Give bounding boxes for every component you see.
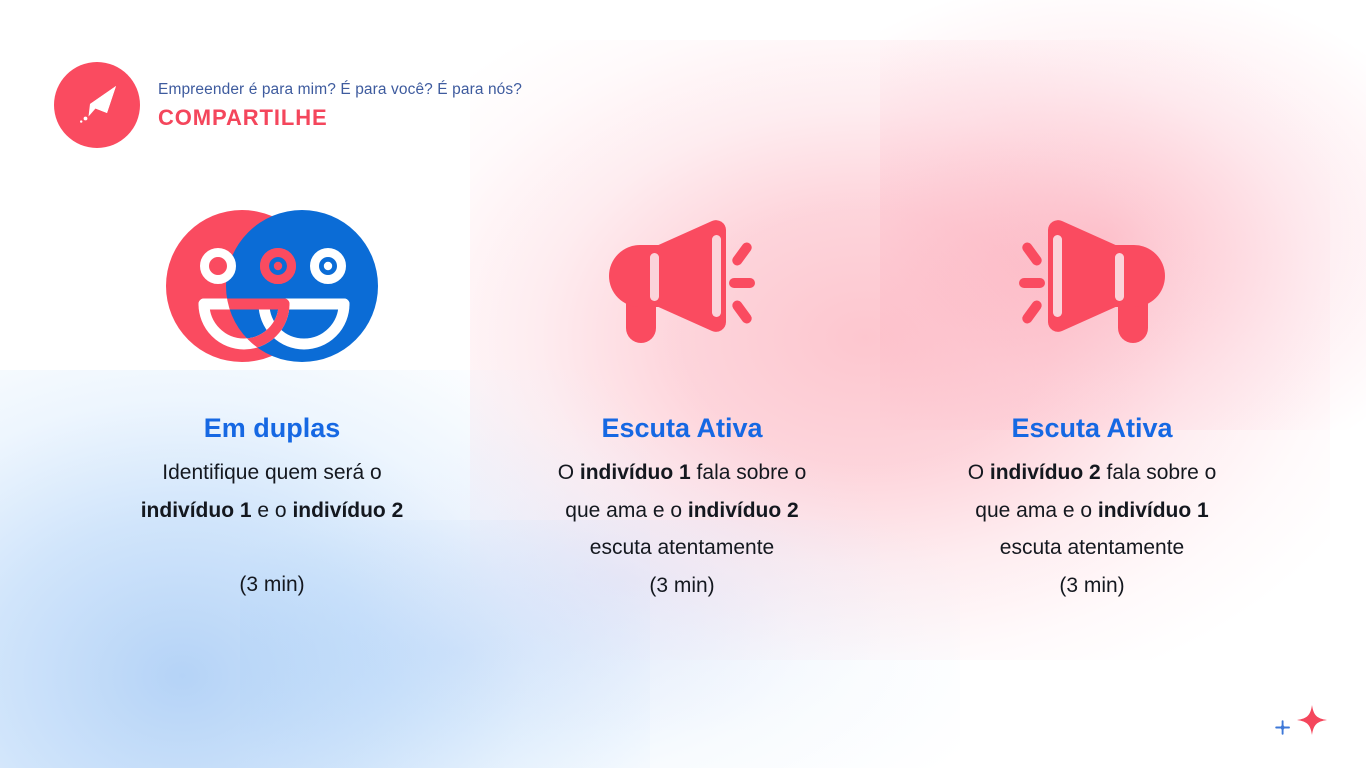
- body-text: Identifique quem será o: [162, 461, 381, 484]
- column-duration: (3 min): [239, 566, 304, 603]
- body-text-bold: indivíduo 2: [292, 499, 403, 522]
- body-line: Identifique quem será o: [141, 454, 404, 491]
- body-text-bold: indivíduo 1: [141, 499, 252, 522]
- body-text: fala sobre o: [691, 461, 807, 484]
- column-body: O indivíduo 1 fala sobre o que ama e o i…: [558, 454, 807, 566]
- column-body: Identifique quem será o indivíduo 1 e o …: [141, 454, 404, 529]
- column-duration: (3 min): [649, 567, 714, 604]
- megaphone-right-icon: [594, 211, 770, 366]
- body-line: que ama e o indivíduo 2: [558, 492, 807, 529]
- body-text: escuta atentamente: [1000, 536, 1184, 559]
- column-icon-box: [166, 190, 378, 386]
- body-line: O indivíduo 2 fala sobre o: [968, 454, 1217, 491]
- column-escuta-ativa-1: Escuta Ativa O indivíduo 1 fala sobre o …: [477, 190, 887, 604]
- body-text-bold: indivíduo 1: [1098, 499, 1209, 522]
- body-text-bold: indivíduo 2: [688, 499, 799, 522]
- column-heading: Escuta Ativa: [1011, 412, 1172, 444]
- column-em-duplas: Em duplas Identifique quem será o indiví…: [67, 190, 477, 604]
- logo-badge: [54, 62, 140, 148]
- columns-container: Em duplas Identifique quem será o indiví…: [0, 190, 1366, 604]
- column-icon-box: [594, 190, 770, 386]
- body-text: que ama e o: [975, 499, 1098, 522]
- plus-sparkle-icon: [1276, 721, 1289, 734]
- body-text-bold: indivíduo 2: [990, 461, 1101, 484]
- slide-canvas: Empreender é para mim? É para você? É pa…: [0, 0, 1366, 768]
- body-text: fala sobre o: [1101, 461, 1217, 484]
- megaphone-left-icon: [1004, 211, 1180, 366]
- slide-header: Empreender é para mim? É para você? É pa…: [54, 62, 522, 148]
- body-text: O: [558, 461, 580, 484]
- header-text-block: Empreender é para mim? É para você? É pa…: [158, 80, 522, 133]
- four-point-star-icon: [1297, 705, 1327, 735]
- column-heading: Em duplas: [204, 412, 341, 444]
- body-text: escuta atentamente: [590, 536, 774, 559]
- header-subtitle: Empreender é para mim? É para você? É pa…: [158, 80, 522, 100]
- column-heading: Escuta Ativa: [601, 412, 762, 444]
- body-line: O indivíduo 1 fala sobre o: [558, 454, 807, 491]
- body-text-bold: indivíduo 1: [580, 461, 691, 484]
- body-line: escuta atentamente: [968, 529, 1217, 566]
- footer-sparkle-mark: [1264, 700, 1340, 746]
- paper-plane-icon: [71, 77, 123, 134]
- body-line: que ama e o indivíduo 1: [968, 492, 1217, 529]
- body-line: indivíduo 1 e o indivíduo 2: [141, 492, 404, 529]
- header-title: COMPARTILHE: [158, 103, 522, 133]
- body-text: e o: [252, 499, 293, 522]
- body-text: que ama e o: [565, 499, 688, 522]
- column-body: O indivíduo 2 fala sobre o que ama e o i…: [968, 454, 1217, 566]
- column-escuta-ativa-2: Escuta Ativa O indivíduo 2 fala sobre o …: [887, 190, 1297, 604]
- column-icon-box: [1004, 190, 1180, 386]
- two-smiley-faces-icon: [166, 206, 378, 371]
- column-duration: (3 min): [1059, 567, 1124, 604]
- body-line: escuta atentamente: [558, 529, 807, 566]
- body-text: O: [968, 461, 990, 484]
